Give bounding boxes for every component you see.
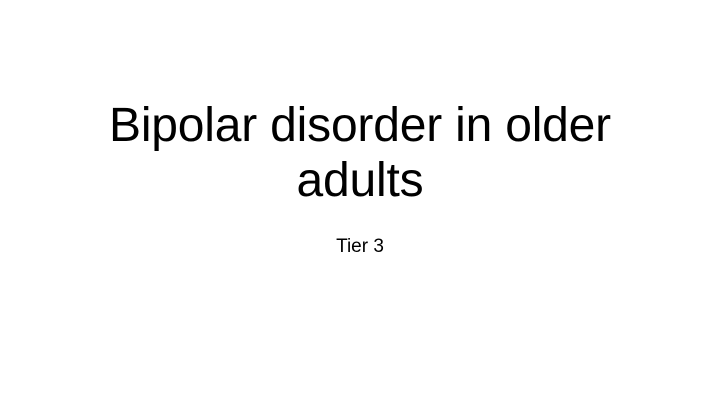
slide-subtitle: Tier 3 [54, 235, 666, 259]
title-placeholder[interactable]: Bipolar disorder in older adults [54, 98, 666, 208]
title-slide: Bipolar disorder in older adults Tier 3 [0, 0, 720, 405]
subtitle-placeholder[interactable]: Tier 3 [54, 235, 666, 259]
page-title: Bipolar disorder in older adults [54, 98, 666, 208]
